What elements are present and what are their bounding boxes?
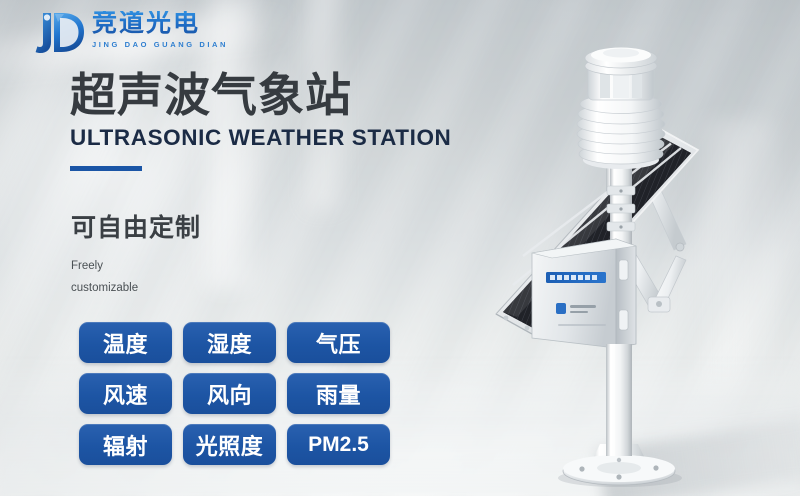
feature-tag-radiation[interactable]: 辐射 bbox=[79, 424, 172, 465]
weather-station-illustration bbox=[470, 8, 800, 496]
page-title-cn: 超声波气象站 bbox=[70, 72, 451, 120]
product-image bbox=[470, 8, 800, 496]
ultrasonic-sensor-head bbox=[585, 48, 657, 101]
cabinet-brand-icon bbox=[556, 303, 566, 314]
sensor-riser bbox=[607, 160, 635, 250]
subheadline-block: 可自由定制 Freely customizable bbox=[71, 208, 201, 300]
control-cabinet bbox=[532, 239, 636, 348]
subtitle-en-line1: Freely bbox=[71, 255, 201, 277]
feature-tag-humidity[interactable]: 湿度 bbox=[183, 322, 276, 363]
brand-name-cn: 竞道光电 bbox=[92, 11, 228, 36]
brand-logo[interactable]: 竞道光电 JING DAO GUANG DIAN bbox=[34, 9, 228, 56]
feature-tag-pm25[interactable]: PM2.5 bbox=[287, 424, 390, 465]
subtitle-en: Freely customizable bbox=[71, 255, 201, 300]
feature-tag-pressure[interactable]: 气压 bbox=[287, 322, 390, 363]
feature-tag-illuminance[interactable]: 光照度 bbox=[183, 424, 276, 465]
feature-tag-wind-speed[interactable]: 风速 bbox=[79, 373, 172, 414]
radiation-shield bbox=[577, 95, 665, 170]
headline-block: 超声波气象站 ULTRASONIC WEATHER STATION bbox=[70, 72, 451, 171]
jd-monogram-icon bbox=[34, 9, 86, 56]
feature-tag-rainfall[interactable]: 雨量 bbox=[287, 373, 390, 414]
product-banner: 竞道光电 JING DAO GUANG DIAN 超声波气象站 ULTRASON… bbox=[0, 0, 800, 496]
title-divider bbox=[70, 166, 142, 171]
feature-tag-grid: 温度 湿度 气压 风速 风向 雨量 辐射 光照度 PM2.5 bbox=[79, 322, 390, 465]
brand-name-en: JING DAO GUANG DIAN bbox=[92, 40, 228, 49]
page-title-en: ULTRASONIC WEATHER STATION bbox=[70, 125, 451, 151]
subtitle-en-line2: customizable bbox=[71, 277, 201, 299]
feature-tag-wind-direction[interactable]: 风向 bbox=[183, 373, 276, 414]
feature-tag-temperature[interactable]: 温度 bbox=[79, 322, 172, 363]
subtitle-cn: 可自由定制 bbox=[71, 208, 201, 244]
